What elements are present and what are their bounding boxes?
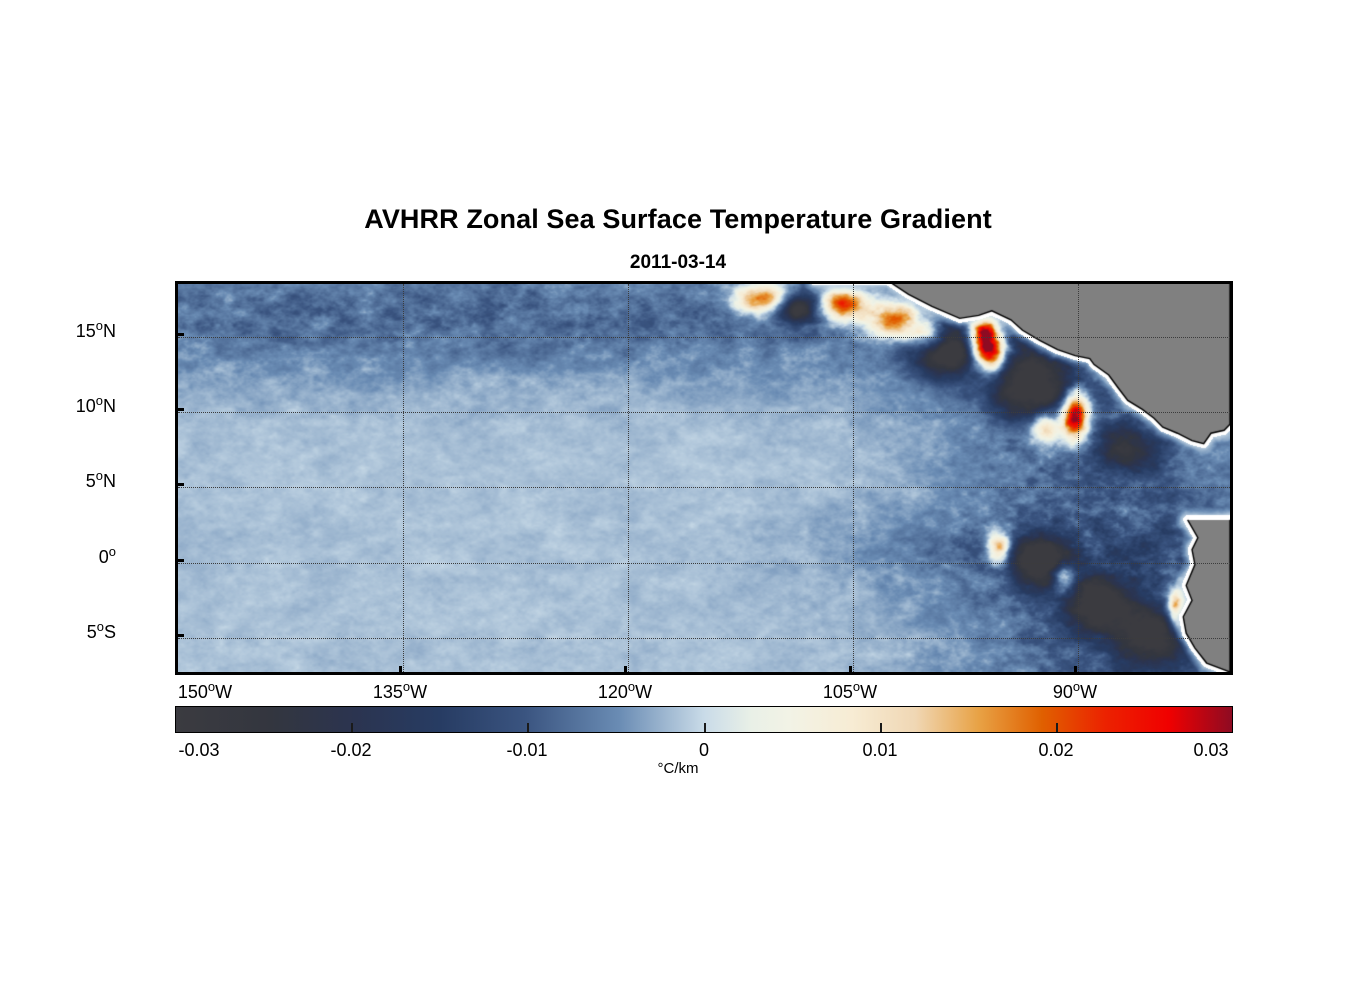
sst-gradient-heatmap bbox=[178, 284, 1230, 672]
x-tick-mark bbox=[1074, 666, 1077, 675]
x-tick-label: 150oW bbox=[178, 682, 232, 703]
colorbar-tick-label: 0 bbox=[699, 740, 709, 761]
colorbar-tick-label: 0.01 bbox=[862, 740, 897, 761]
y-tick-mark bbox=[175, 333, 184, 336]
figure-title: AVHRR Zonal Sea Surface Temperature Grad… bbox=[0, 204, 1356, 235]
x-tick-mark bbox=[849, 666, 852, 675]
colorbar-tick-mark bbox=[704, 723, 706, 732]
y-tick-label: 10oN bbox=[76, 396, 116, 417]
y-tick-label: 5oN bbox=[86, 471, 116, 492]
y-tick-mark bbox=[175, 408, 184, 411]
figure-subtitle: 2011-03-14 bbox=[0, 252, 1356, 274]
x-tick-mark bbox=[399, 666, 402, 675]
map-plot-axes bbox=[175, 281, 1233, 675]
x-tick-mark bbox=[624, 666, 627, 675]
colorbar-tick-label: 0.03 bbox=[1193, 740, 1228, 761]
colorbar bbox=[175, 706, 1233, 733]
y-tick-mark bbox=[175, 483, 184, 486]
colorbar-tick-label: 0.02 bbox=[1038, 740, 1073, 761]
y-tick-label: 5oS bbox=[87, 622, 116, 643]
y-tick-label: 0o bbox=[99, 547, 116, 568]
x-tick-label: 90oW bbox=[1053, 682, 1097, 703]
y-tick-mark bbox=[175, 634, 184, 637]
x-tick-label: 135oW bbox=[373, 682, 427, 703]
colorbar-tick-mark bbox=[527, 723, 529, 732]
colorbar-tick-mark bbox=[1056, 723, 1058, 732]
colorbar-tick-mark bbox=[351, 723, 353, 732]
y-tick-mark bbox=[175, 559, 184, 562]
y-tick-label: 15oN bbox=[76, 321, 116, 342]
colorbar-tick-label: -0.03 bbox=[178, 740, 219, 761]
x-tick-label: 120oW bbox=[598, 682, 652, 703]
colorbar-tick-label: -0.01 bbox=[506, 740, 547, 761]
x-tick-label: 105oW bbox=[823, 682, 877, 703]
colorbar-tick-mark bbox=[880, 723, 882, 732]
colorbar-unit-label: °C/km bbox=[0, 760, 1356, 777]
colorbar-tick-label: -0.02 bbox=[330, 740, 371, 761]
